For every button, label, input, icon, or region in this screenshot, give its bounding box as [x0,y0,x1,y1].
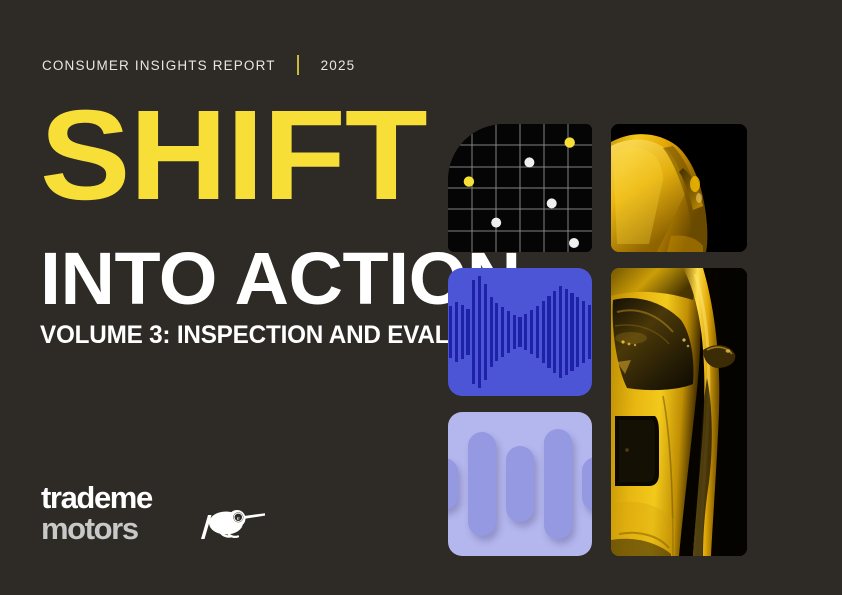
svg-text:e: e [237,515,240,522]
pill-bar [506,446,534,522]
waveform-bar [542,301,545,363]
waveform-bar [449,306,452,358]
headline-primary: SHIFT [40,106,464,206]
waveform-bar [507,311,510,353]
kiwi-bird-icon: e [193,505,269,541]
waveform-bars [448,268,592,396]
car-side-illustration [611,268,747,556]
car-photo-hood-tile [611,124,747,252]
pill-bar [544,429,572,539]
pill-bars [448,412,592,556]
report-cover: CONSUMER INSIGHTS REPORT 2025 SHIFT INTO… [0,0,842,595]
waveform-bar [588,305,591,359]
report-year: 2025 [321,58,356,73]
waveform-bar [495,303,498,361]
waveform-bar [559,286,562,378]
scatter-grid-tile [448,124,592,252]
waveform-bar [472,280,475,384]
pill-bar [448,458,458,510]
waveform-bar [518,317,521,347]
eyebrow-header: CONSUMER INSIGHTS REPORT 2025 [42,54,355,76]
waveform-bar [565,289,568,375]
vertical-divider-icon [297,55,299,75]
waveform-bar [455,302,458,362]
waveform-bar [466,309,469,355]
waveform-tile [448,268,592,396]
pill-bar [468,432,496,536]
headline-secondary: INTO ACTION [40,248,448,310]
waveform-bar [553,291,556,373]
waveform-bar [576,297,579,367]
brand-logo: trademe motors e [41,482,271,546]
waveform-bar [582,301,585,363]
car-photo-side-tile [611,268,747,556]
report-label: CONSUMER INSIGHTS REPORT [42,58,276,73]
waveform-bar [570,293,573,371]
waveform-bar [461,305,464,359]
pill-bars-tile [448,412,592,556]
waveform-bar [513,315,516,349]
car-hood-illustration [611,124,747,252]
waveform-bar [501,307,504,357]
waveform-bar [547,296,550,368]
waveform-bar [524,314,527,350]
waveform-bar [536,306,539,358]
waveform-bar [484,284,487,380]
waveform-bar [478,276,481,388]
pill-bar [582,457,592,511]
headline-block: SHIFT INTO ACTION VOLUME 3: INSPECTION A… [40,106,440,348]
headline-subtitle: VOLUME 3: INSPECTION AND EVALUATION [40,323,428,348]
waveform-bar [530,310,533,354]
waveform-bar [490,297,493,367]
